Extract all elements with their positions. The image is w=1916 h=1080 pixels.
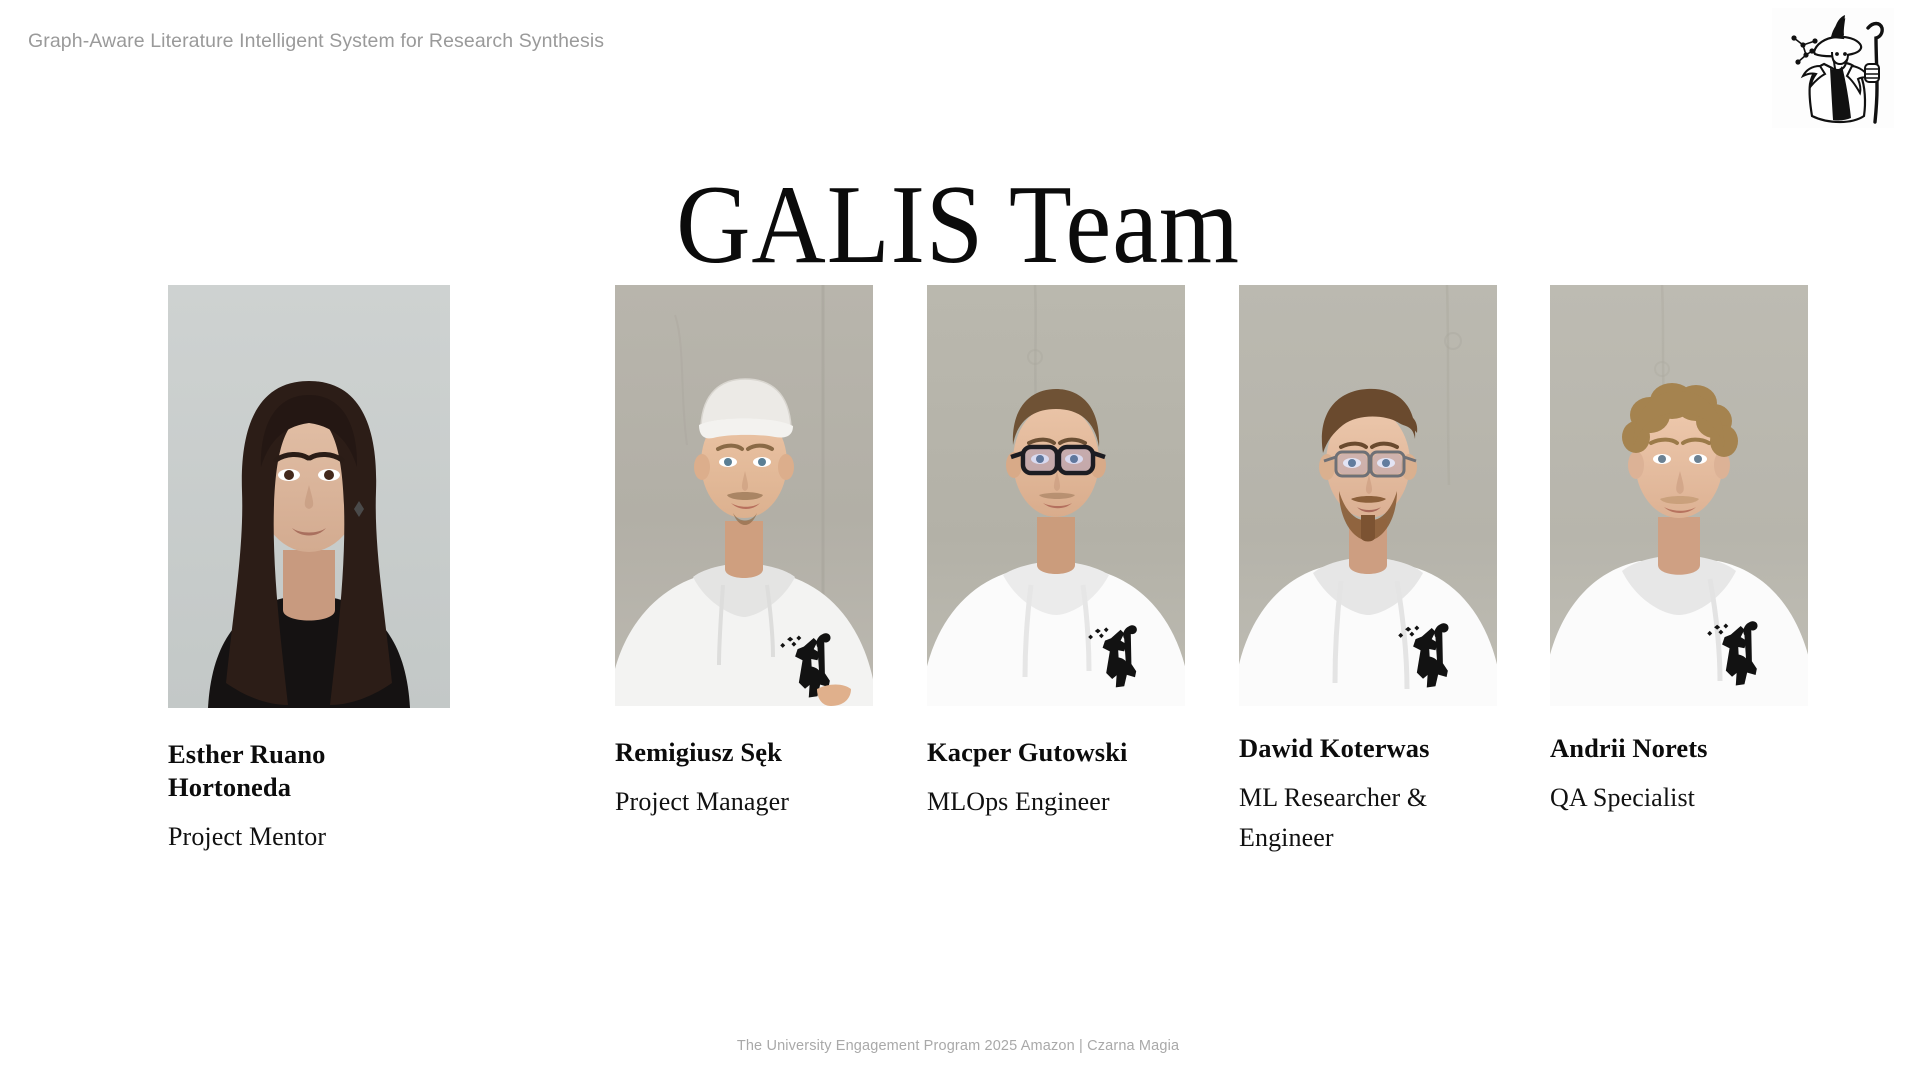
- member-role: ML Researcher & Engineer: [1239, 778, 1439, 857]
- team-member-card: Dawid Koterwas ML Researcher & Engineer: [1239, 285, 1497, 857]
- member-name: Kacper Gutowski: [927, 736, 1185, 769]
- member-role: MLOps Engineer: [927, 782, 1185, 822]
- member-name: Andrii Norets: [1550, 732, 1808, 765]
- portrait-photo-andrii-norets: [1550, 285, 1808, 706]
- wizard-graph-logo-icon: [1772, 8, 1894, 128]
- member-role: Project Manager: [615, 782, 873, 822]
- member-name: Esther Ruano Hortoneda: [168, 738, 450, 804]
- portrait-photo-esther-ruano-hortoneda: [168, 285, 450, 708]
- member-name: Dawid Koterwas: [1239, 732, 1497, 765]
- portrait-photo-kacper-gutowski: [927, 285, 1185, 706]
- team-member-grid: Esther Ruano Hortoneda Project Mentor: [0, 285, 1916, 845]
- portrait-photo-dawid-koterwas: [1239, 285, 1497, 706]
- team-member-card: Esther Ruano Hortoneda Project Mentor: [168, 285, 450, 857]
- page-title: GALIS Team: [77, 163, 1840, 288]
- slide-subtitle: Graph-Aware Literature Intelligent Syste…: [28, 30, 604, 53]
- slide-footer: The University Engagement Program 2025 A…: [0, 1038, 1916, 1054]
- team-member-card: Andrii Norets QA Specialist: [1550, 285, 1808, 818]
- member-role: Project Mentor: [168, 817, 450, 857]
- team-member-card: Kacper Gutowski MLOps Engineer: [927, 285, 1185, 822]
- team-member-card: Remigiusz Sęk Project Manager: [615, 285, 873, 822]
- portrait-photo-remigiusz-sek: [615, 285, 873, 706]
- member-role: QA Specialist: [1550, 778, 1808, 818]
- member-name: Remigiusz Sęk: [615, 736, 873, 769]
